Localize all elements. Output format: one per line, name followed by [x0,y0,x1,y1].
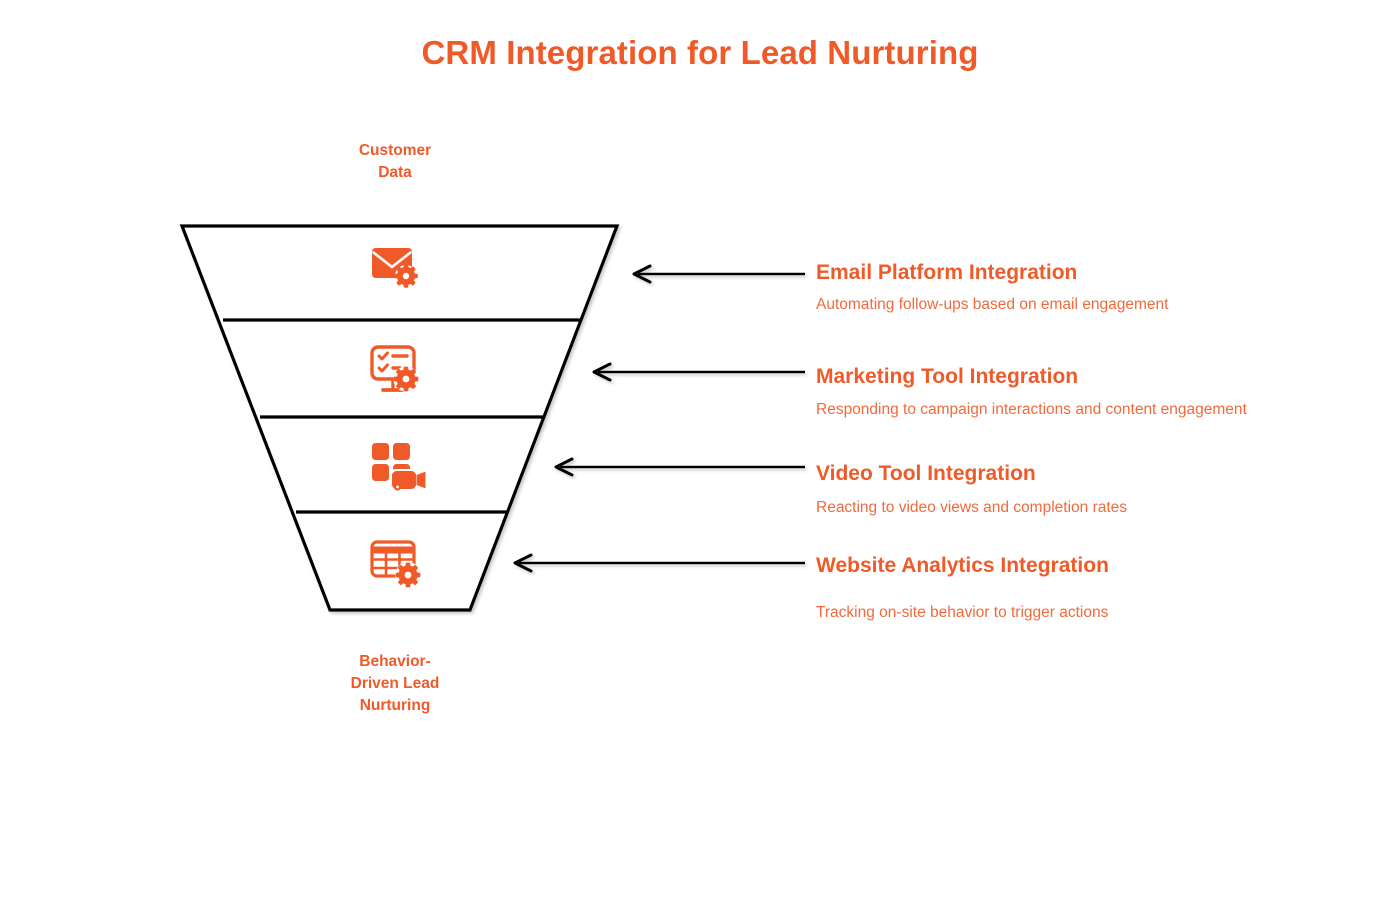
callout-title: Marketing Tool Integration [816,365,1400,389]
arrow-to-stage-2 [594,364,805,380]
funnel-top-label: Customer Data [305,140,485,184]
callout-title: Email Platform Integration [816,261,1400,285]
checklist-board-gear-icon [368,343,430,401]
callout-description: Tracking on-site behavior to trigger act… [816,603,1400,623]
callout-description: Responding to campaign interactions and … [816,400,1400,420]
callout-stage-2: Marketing Tool Integration Responding to… [816,365,1400,420]
grid-video-camera-icon [368,439,430,497]
callout-stage-4: Website Analytics Integration Tracking o… [816,554,1400,623]
callout-title: Website Analytics Integration [816,554,1400,578]
arrow-to-stage-3 [556,459,805,475]
diagram-canvas: CRM Integration for Lead Nurturing [0,0,1400,914]
spreadsheet-gear-icon [368,537,430,595]
arrow-to-stage-1 [634,266,805,282]
callout-stage-1: Email Platform Integration Automating fo… [816,261,1400,315]
callout-stage-3: Video Tool Integration Reacting to video… [816,462,1400,518]
callout-description: Automating follow-ups based on email eng… [816,295,1400,315]
email-gear-icon [368,244,430,302]
arrow-to-stage-4 [515,555,805,571]
funnel-graphic [0,0,1400,914]
callout-description: Reacting to video views and completion r… [816,498,1400,518]
callout-title: Video Tool Integration [816,462,1400,486]
funnel-bottom-label: Behavior- Driven Lead Nurturing [300,651,490,717]
